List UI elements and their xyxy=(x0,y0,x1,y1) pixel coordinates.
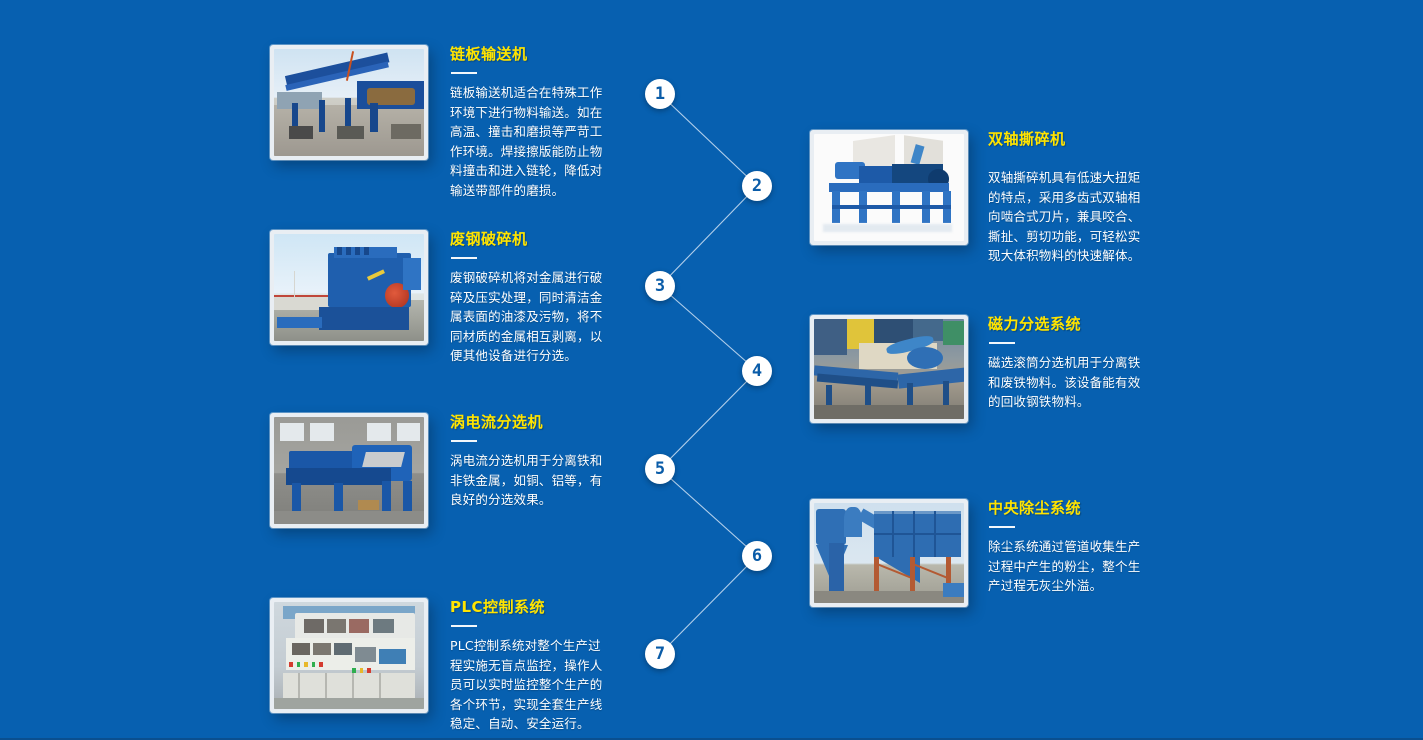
eddy-current-separator-photo xyxy=(274,417,424,524)
equipment-card-plc-control-system[interactable]: PLC控制系统 PLC控制系统对整个生产过程实施无盲点监控，操作人员可以实时监控… xyxy=(270,598,605,734)
equipment-description: 磁选滚筒分选机用于分离铁和废铁物料。该设备能有效的回收钢铁物料。 xyxy=(988,353,1153,412)
flow-connector-lines xyxy=(0,0,1423,740)
title-underline xyxy=(451,440,477,442)
eddy-current-separator-thumbnail[interactable] xyxy=(270,413,428,528)
flow-node-5[interactable]: 5 xyxy=(645,454,675,484)
equipment-title: 磁力分选系统 xyxy=(988,315,1153,333)
equipment-description: 除尘系统通过管道收集生产过程中产生的粉尘，整个生产过程无灰尘外溢。 xyxy=(988,537,1153,596)
scrap-steel-shredder-text: 废钢破碎机 废钢破碎机将对金属进行破碎及压实处理，同时清洁金属表面的油漆及污物，… xyxy=(450,230,605,366)
equipment-title: 链板输送机 xyxy=(450,45,605,63)
magnetic-separation-system-thumbnail[interactable] xyxy=(810,315,968,423)
magnetic-separation-system-photo xyxy=(814,319,964,419)
twin-shaft-shredder-photo xyxy=(814,134,964,241)
equipment-title: 中央除尘系统 xyxy=(988,499,1153,517)
equipment-description: 涡电流分选机用于分离铁和非铁金属，如铜、铝等，有良好的分选效果。 xyxy=(450,451,605,510)
chain-plate-conveyor-photo xyxy=(274,49,424,156)
equipment-title: 涡电流分选机 xyxy=(450,413,605,431)
flow-node-4[interactable]: 4 xyxy=(742,356,772,386)
eddy-current-separator-text: 涡电流分选机 涡电流分选机用于分离铁和非铁金属，如铜、铝等，有良好的分选效果。 xyxy=(450,413,605,510)
central-dust-removal-system-thumbnail[interactable] xyxy=(810,499,968,607)
title-underline xyxy=(989,342,1015,344)
flow-node-6[interactable]: 6 xyxy=(742,541,772,571)
title-underline xyxy=(451,257,477,259)
twin-shaft-shredder-thumbnail[interactable] xyxy=(810,130,968,245)
plc-control-system-thumbnail[interactable] xyxy=(270,598,428,713)
title-underline xyxy=(989,526,1015,528)
equipment-card-eddy-current-separator[interactable]: 涡电流分选机 涡电流分选机用于分离铁和非铁金属，如铜、铝等，有良好的分选效果。 xyxy=(270,413,605,528)
scrap-steel-shredder-photo xyxy=(274,234,424,341)
central-dust-removal-system-photo xyxy=(814,503,964,603)
equipment-title: 双轴撕碎机 xyxy=(988,130,1153,148)
chain-plate-conveyor-thumbnail[interactable] xyxy=(270,45,428,160)
plc-control-system-text: PLC控制系统 PLC控制系统对整个生产过程实施无盲点监控，操作人员可以实时监控… xyxy=(450,598,605,734)
equipment-description: PLC控制系统对整个生产过程实施无盲点监控，操作人员可以实时监控整个生产的各个环… xyxy=(450,636,605,734)
equipment-card-chain-plate-conveyor[interactable]: 链板输送机 链板输送机适合在特殊工作环境下进行物料输送。如在高温、撞击和磨损等严… xyxy=(270,45,605,200)
flow-node-1[interactable]: 1 xyxy=(645,79,675,109)
flow-node-7[interactable]: 7 xyxy=(645,639,675,669)
equipment-card-twin-shaft-shredder[interactable]: 双轴撕碎机 双轴撕碎机具有低速大扭矩的特点，采用多齿式双轴相向啮合式刀片，兼具咬… xyxy=(810,130,1155,266)
equipment-card-central-dust-removal-system[interactable]: 中央除尘系统 除尘系统通过管道收集生产过程中产生的粉尘，整个生产过程无灰尘外溢。 xyxy=(810,499,1155,607)
chain-plate-conveyor-text: 链板输送机 链板输送机适合在特殊工作环境下进行物料输送。如在高温、撞击和磨损等严… xyxy=(450,45,605,200)
flow-node-2[interactable]: 2 xyxy=(742,171,772,201)
equipment-card-magnetic-separation-system[interactable]: 磁力分选系统 磁选滚筒分选机用于分离铁和废铁物料。该设备能有效的回收钢铁物料。 xyxy=(810,315,1155,423)
equipment-title: 废钢破碎机 xyxy=(450,230,605,248)
equipment-description: 双轴撕碎机具有低速大扭矩的特点，采用多齿式双轴相向啮合式刀片，兼具咬合、撕扯、剪… xyxy=(988,168,1153,266)
title-underline xyxy=(451,72,477,74)
equipment-card-scrap-steel-shredder[interactable]: 废钢破碎机 废钢破碎机将对金属进行破碎及压实处理，同时清洁金属表面的油漆及污物，… xyxy=(270,230,605,366)
plc-control-system-photo xyxy=(274,602,424,709)
equipment-title: PLC控制系统 xyxy=(450,598,605,616)
magnetic-separation-system-text: 磁力分选系统 磁选滚筒分选机用于分离铁和废铁物料。该设备能有效的回收钢铁物料。 xyxy=(988,315,1153,412)
equipment-description: 废钢破碎机将对金属进行破碎及压实处理，同时清洁金属表面的油漆及污物，将不同材质的… xyxy=(450,268,605,366)
title-underline xyxy=(451,625,477,627)
equipment-description: 链板输送机适合在特殊工作环境下进行物料输送。如在高温、撞击和磨损等严苛工作环境。… xyxy=(450,83,605,200)
twin-shaft-shredder-text: 双轴撕碎机 双轴撕碎机具有低速大扭矩的特点，采用多齿式双轴相向啮合式刀片，兼具咬… xyxy=(988,130,1153,266)
flow-node-3[interactable]: 3 xyxy=(645,271,675,301)
scrap-steel-shredder-thumbnail[interactable] xyxy=(270,230,428,345)
central-dust-removal-system-text: 中央除尘系统 除尘系统通过管道收集生产过程中产生的粉尘，整个生产过程无灰尘外溢。 xyxy=(988,499,1153,596)
equipment-flow-diagram: 链板输送机 链板输送机适合在特殊工作环境下进行物料输送。如在高温、撞击和磨损等严… xyxy=(0,0,1423,740)
